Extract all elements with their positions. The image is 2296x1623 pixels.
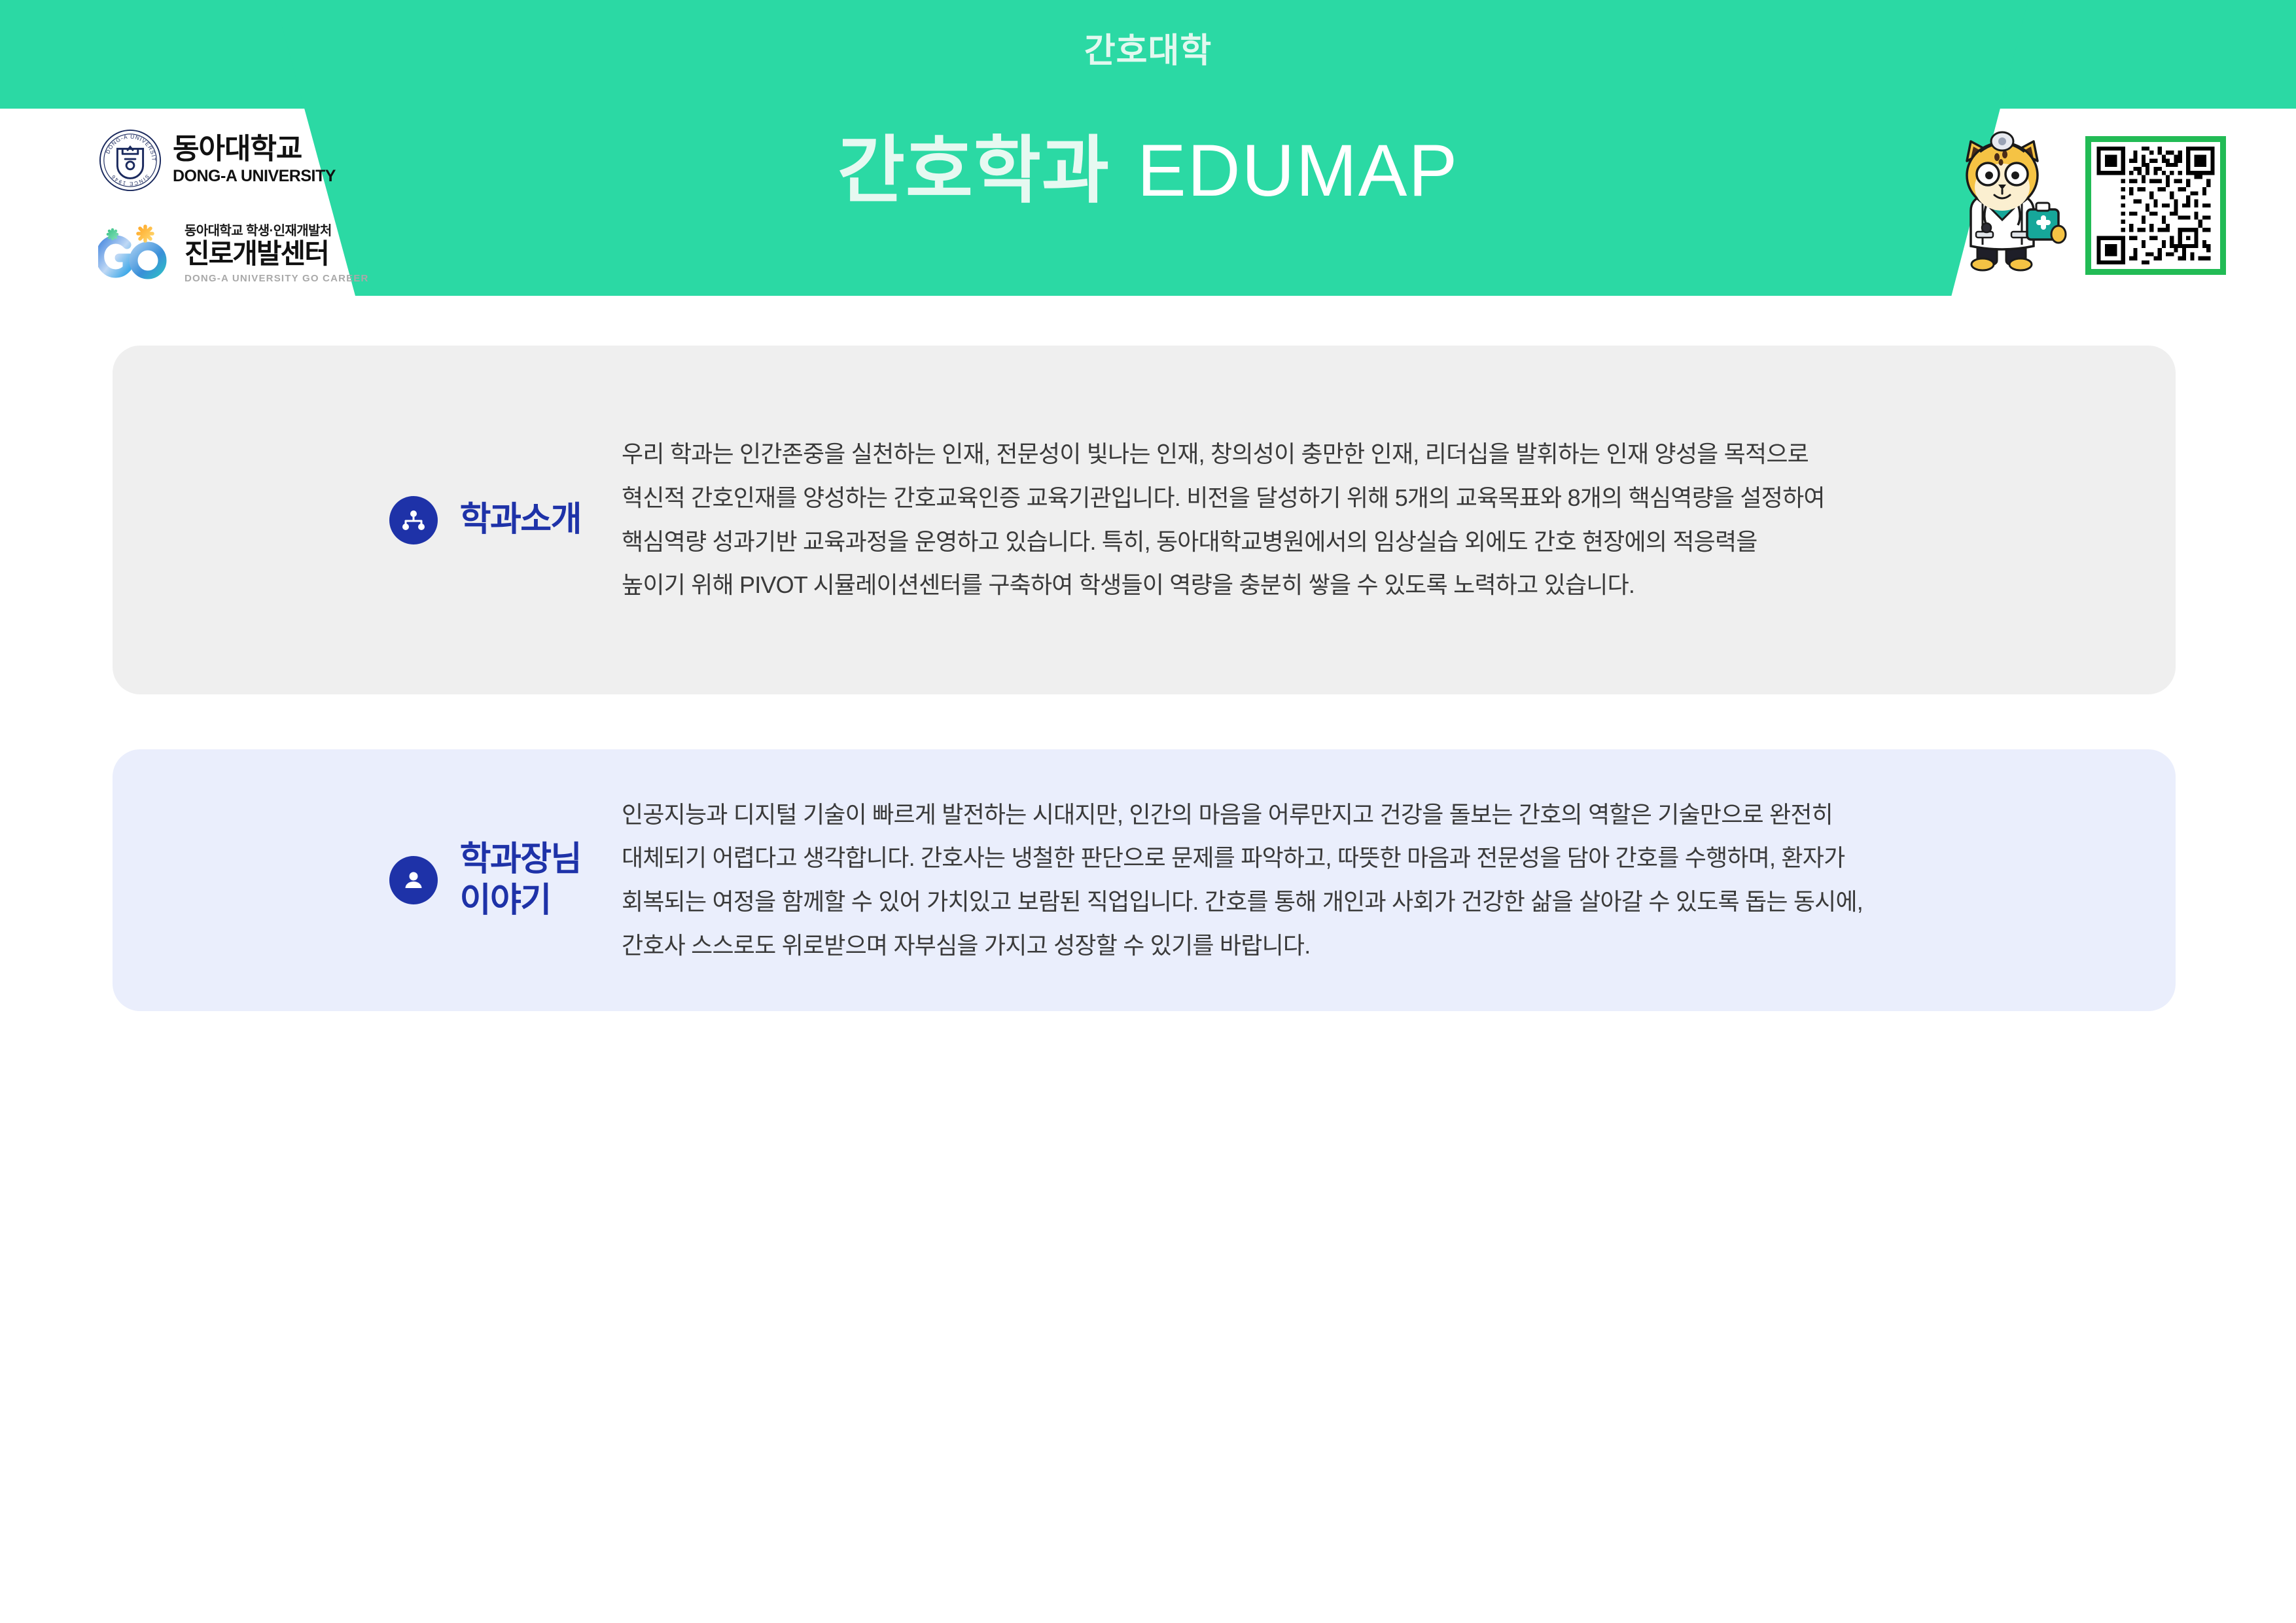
card-intro-body: 우리 학과는 인간존중을 실천하는 인재, 전문성이 빛나는 인재, 창의성이 …: [622, 433, 2176, 607]
org-chart-icon: [389, 496, 438, 544]
career-center-department: 동아대학교 학생·인재개발처: [185, 224, 369, 238]
person-icon: [389, 856, 438, 904]
card-chair-body: 인공지능과 디지털 기술이 빠르게 발전하는 시대지만, 인간의 마음을 어루만…: [622, 793, 2176, 967]
card-chair-title: 학과장님 이야기: [460, 839, 581, 922]
svg-text:SINCE 1946: SINCE 1946: [110, 173, 150, 187]
career-center-name-block: 동아대학교 학생·인재개발처 진로개발센터 DONG-A UNIVERSITY …: [185, 224, 369, 283]
career-center-name-english: DONG-A UNIVERSITY GO CAREER: [185, 274, 369, 283]
card-intro-line: 혁신적 간호인재를 양성하는 간호교육인증 교육기관입니다. 비전을 달성하기 …: [622, 476, 2104, 520]
header-eyebrow: 간호대학: [0, 34, 2296, 68]
page-header: 간호대학 간호학과EDUMAP DONG-A UNIVERSITY: [0, 0, 2296, 327]
page-title-english: EDUMAP: [1137, 130, 1458, 211]
card-chair-line: 간호사 스스로도 위로받으며 자부심을 가지고 성장할 수 있기를 바랍니다.: [622, 924, 2104, 968]
svg-text:DONG-A UNIVERSITY: DONG-A UNIVERSITY: [98, 128, 157, 162]
card-chair-heading: 학과장님 이야기: [113, 839, 622, 922]
card-intro-heading: 학과소개: [113, 496, 622, 544]
qr-code[interactable]: [2085, 136, 2226, 275]
card-department-intro: 학과소개 우리 학과는 인간존중을 실천하는 인재, 전문성이 빛나는 인재, …: [113, 346, 2176, 694]
card-chair-line: 회복되는 여정을 함께할 수 있어 가치있고 보람된 직업입니다. 간호를 통해…: [622, 880, 2104, 924]
career-center-name-korean: 진로개발센터: [185, 240, 369, 268]
card-chair-message: 학과장님 이야기 인공지능과 디지털 기술이 빠르게 발전하는 시대지만, 인간…: [113, 749, 2176, 1011]
mascot-illustration: [1937, 124, 2068, 275]
card-intro-line: 높이기 위해 PIVOT 시뮬레이션센터를 구축하여 학생들이 역량을 충분히 …: [622, 563, 2104, 607]
card-intro-title: 학과소개: [460, 499, 581, 541]
university-name-korean: 동아대학교: [173, 135, 336, 164]
logo-stack: DONG-A UNIVERSITY SINCE 1946 동아대학교 DONG-…: [98, 128, 369, 289]
university-seal-icon: DONG-A UNIVERSITY SINCE 1946: [98, 128, 162, 192]
card-chair-line: 대체되기 어렵다고 생각합니다. 간호사는 냉철한 판단으로 문제를 파악하고,…: [622, 836, 2104, 880]
go-logo-icon: [98, 219, 175, 289]
career-center-logo: 동아대학교 학생·인재개발처 진로개발센터 DONG-A UNIVERSITY …: [98, 219, 369, 289]
page-title-korean: 간호학과: [838, 130, 1110, 211]
card-intro-line: 핵심역량 성과기반 교육과정을 운영하고 있습니다. 특히, 동아대학교병원에서…: [622, 520, 2104, 564]
qr-code-inner: [2091, 142, 2220, 269]
card-chair-line: 인공지능과 디지털 기술이 빠르게 발전하는 시대지만, 인간의 마음을 어루만…: [622, 793, 2104, 837]
university-logo: DONG-A UNIVERSITY SINCE 1946 동아대학교 DONG-…: [98, 128, 369, 192]
university-name-english: DONG-A UNIVERSITY: [173, 166, 336, 186]
card-intro-line: 우리 학과는 인간존중을 실천하는 인재, 전문성이 빛나는 인재, 창의성이 …: [622, 433, 2104, 476]
university-name-block: 동아대학교 DONG-A UNIVERSITY: [173, 135, 336, 186]
